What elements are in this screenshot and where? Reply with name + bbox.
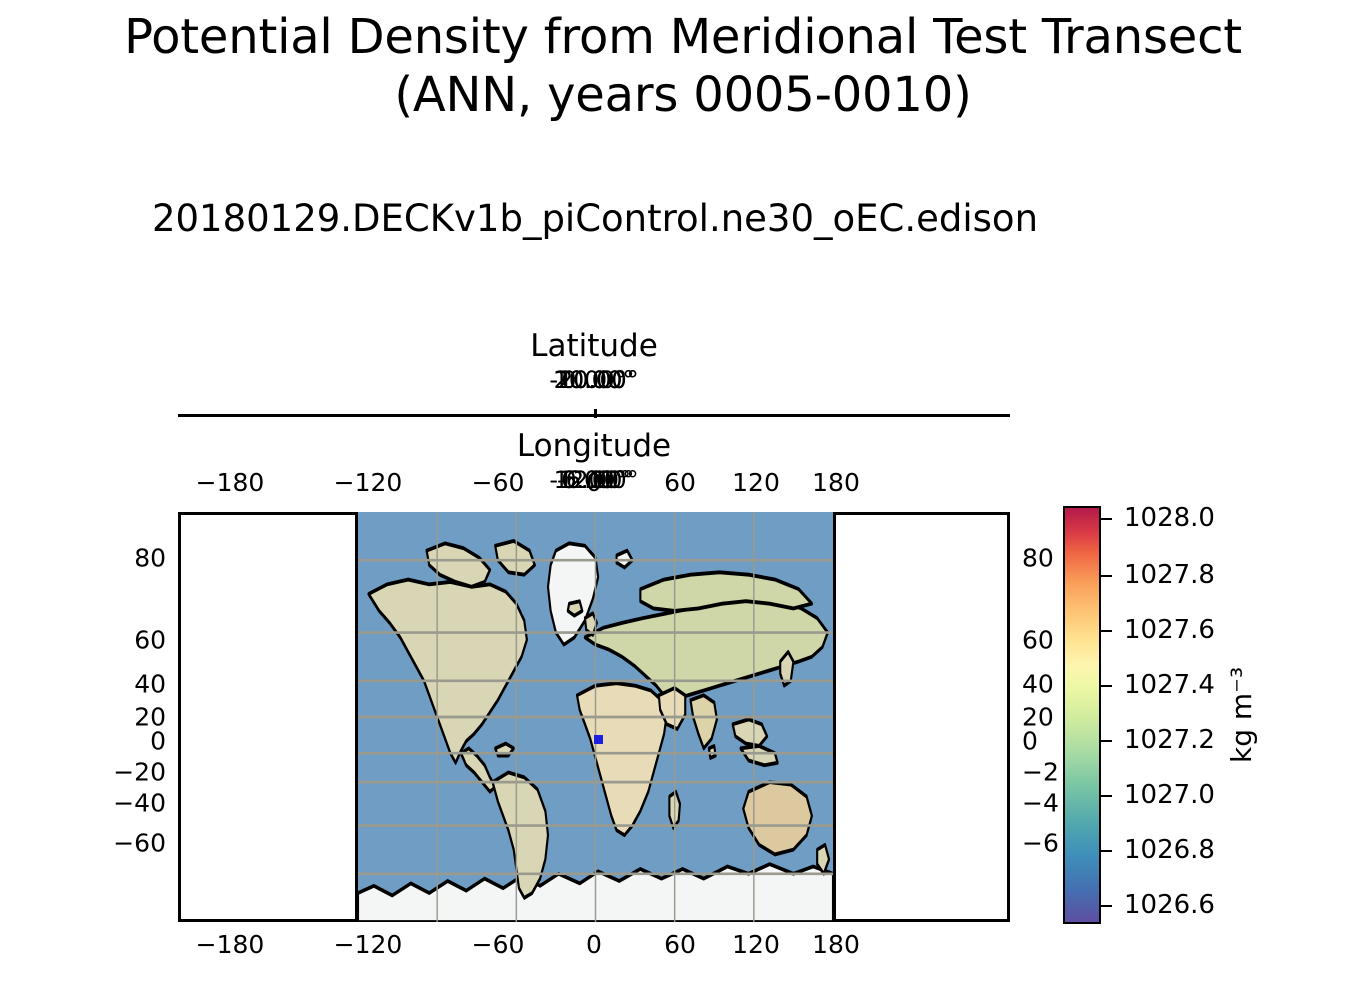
right-y-tick: −6 (1022, 831, 1059, 856)
latitude-tick: 20.00° (554, 366, 635, 394)
bottom-x-tick: 60 (664, 930, 696, 960)
collapsed-latitude-axis (178, 414, 1010, 417)
left-y-tick: −20 (113, 760, 166, 785)
latitude-axis-label: Latitude (178, 328, 1010, 364)
colorbar-tick (1101, 575, 1112, 577)
left-y-tick: −60 (113, 831, 166, 856)
colorbar-tick-label: 1027.8 (1124, 562, 1215, 588)
right-y-tick: 0 (1022, 729, 1038, 754)
page-title: Potential Density from Meridional Test T… (0, 8, 1366, 124)
right-y-tick: −4 (1022, 791, 1059, 816)
right-y-tick: 80 (1022, 546, 1054, 571)
colorbar-gradient[interactable] (1063, 506, 1101, 924)
right-y-tick: 40 (1022, 672, 1054, 697)
colorbar-tick (1101, 685, 1112, 687)
colorbar-tick (1101, 630, 1112, 632)
longitude-axis-label: Longitude (178, 428, 1010, 464)
colorbar-tick-label: 1026.6 (1124, 892, 1215, 918)
bottom-x-tick: −120 (334, 930, 403, 960)
left-y-tick-column: 80 60 40 20 0 −20 −40 −60 (90, 512, 166, 922)
colorbar-unit-label: kg m⁻³ (1225, 575, 1265, 855)
bottom-x-tick: 120 (732, 930, 780, 960)
bottom-x-tick: −180 (196, 930, 265, 960)
colorbar-tick-label: 1027.6 (1124, 617, 1215, 643)
right-y-tick: −2 (1022, 760, 1059, 785)
colorbar-tick (1101, 795, 1112, 797)
colorbar-tick (1101, 905, 1112, 907)
dataset-subtitle: 20180129.DECKv1b_piControl.ne30_oEC.edis… (0, 196, 1190, 242)
colorbar-tick (1101, 850, 1112, 852)
left-y-tick: 0 (150, 729, 166, 754)
world-map-svg (358, 512, 833, 922)
colorbar-tick (1101, 740, 1112, 742)
colorbar-tick-label: 1027.4 (1124, 672, 1215, 698)
transect-location-marker[interactable] (594, 735, 603, 744)
colorbar-tick-label: 1027.0 (1124, 782, 1215, 808)
latitude-overlapped-tick-cluster: -20.00° -10.00° 0.00° 10.00° 20.00° (178, 366, 1010, 394)
colorbar-tick-label: 1027.2 (1124, 727, 1215, 753)
left-y-tick: 80 (134, 546, 166, 571)
bottom-x-tick: −60 (472, 930, 525, 960)
colorbar-tick-label: 1028.0 (1124, 505, 1215, 531)
left-y-tick: 60 (134, 628, 166, 653)
bottom-x-tick-row: −180 −120 −60 0 60 120 180 (178, 930, 1010, 964)
left-y-tick: −40 (113, 791, 166, 816)
colorbar-tick (1101, 518, 1112, 520)
world-map-plot[interactable] (355, 512, 836, 922)
longitude-overlapped-tick-cluster: -12.00° -6.00° 0.00° 6.00° 12.00° (178, 466, 1010, 494)
longitude-tick: 12.00° (554, 466, 635, 494)
colorbar-tick-label: 1026.8 (1124, 837, 1215, 863)
left-y-tick: 40 (134, 672, 166, 697)
bottom-x-tick: 180 (812, 930, 860, 960)
collapsed-axis-tick (594, 409, 597, 418)
bottom-x-tick: 0 (586, 930, 602, 960)
right-y-tick: 60 (1022, 628, 1054, 653)
